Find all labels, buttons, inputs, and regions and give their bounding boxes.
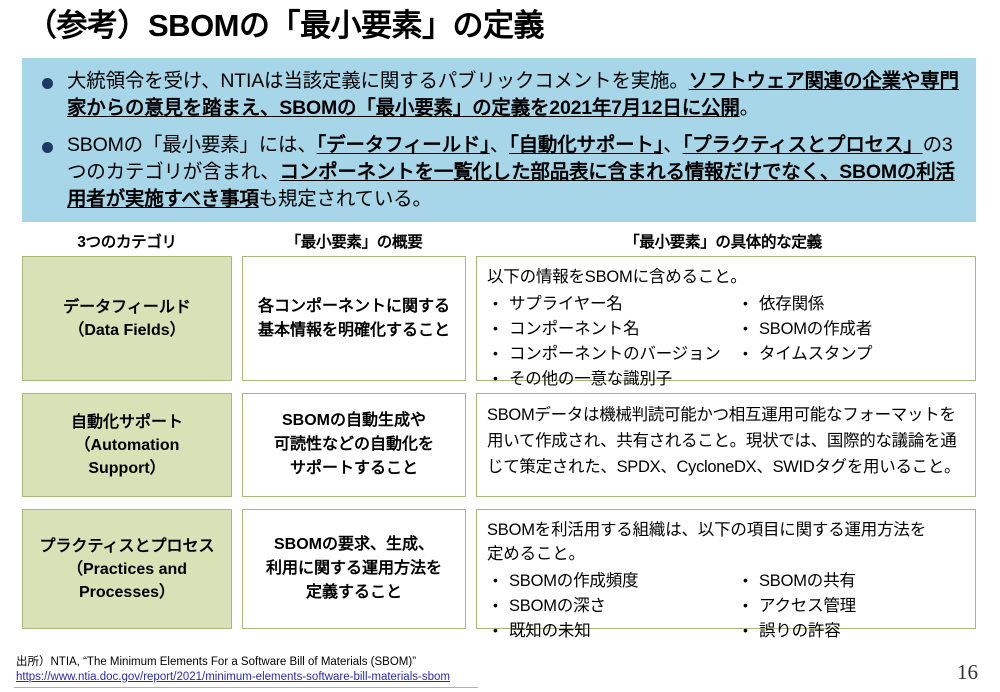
detail-list-item: 誤りの許容 — [737, 619, 856, 644]
category-name-en: （Practices andProcesses） — [27, 558, 227, 604]
banner-bullet-2-text: SBOMの「最小要素」には、「データフィールド」、「自動化サポート」、「プラクテ… — [67, 132, 966, 213]
page-title: （参考）SBOMの「最小要素」の定義 — [26, 6, 966, 46]
detail-cell-automation-support: SBOMデータは機械判読可能かつ相互運用可能なフォーマットを用いて作成され、共有… — [476, 393, 976, 497]
detail-list-item: SBOMの作成者 — [737, 317, 872, 342]
column-header-definition: 「最小要素」の具体的な定義 — [470, 230, 976, 252]
overview-cell-practices-processes: SBOMの要求、生成、利用に関する運用方法を定義すること — [242, 509, 466, 629]
detail-list-item: 依存関係 — [737, 292, 872, 317]
overview-text: 各コンポーネントに関する基本情報を明確化すること — [249, 295, 459, 343]
overview-text: SBOMの要求、生成、利用に関する運用方法を定義すること — [249, 533, 459, 605]
category-cell-automation-support: 自動化サポート （AutomationSupport） — [22, 393, 232, 497]
column-header-overview: 「最小要素」の概要 — [242, 230, 466, 252]
footer-source: 出所）NTIA, “The Minimum Elements For a Sof… — [16, 655, 450, 685]
detail-list-item: 既知の未知 — [487, 619, 737, 644]
banner-bullet-1: 大統領令を受け、NTIAは当該定義に関するパブリックコメントを実施。ソフトウェア… — [32, 68, 966, 122]
detail-list-right: 依存関係SBOMの作成者タイムスタンプ — [737, 292, 872, 392]
detail-list-item: タイムスタンプ — [737, 342, 872, 367]
footer-divider — [14, 687, 478, 688]
detail-list-right: SBOMの共有アクセス管理誤りの許容 — [737, 569, 856, 644]
detail-lead-text: SBOMを利活用する組織は、以下の項目に関する運用方法を定めること。 — [487, 518, 965, 566]
detail-cell-practices-processes: SBOMを利活用する組織は、以下の項目に関する運用方法を定めること。 SBOMの… — [476, 509, 976, 629]
banner-plain-text: 、 — [490, 134, 509, 156]
table-row: 自動化サポート （AutomationSupport） SBOMの自動生成や可読… — [22, 393, 976, 497]
detail-list-item: サプライヤー名 — [487, 292, 737, 317]
banner-plain-text: 大統領令を受け、NTIAは当該定義に関するパブリックコメントを実施。 — [67, 70, 689, 92]
detail-list-left: SBOMの作成頻度SBOMの深さ既知の未知 — [487, 569, 737, 644]
detail-list-columns: サプライヤー名コンポーネント名コンポーネントのバージョンその他の一意な識別子 依… — [487, 292, 965, 392]
bullet-dot-icon — [42, 78, 53, 89]
page-number: 16 — [957, 660, 978, 685]
overview-cell-data-fields: 各コンポーネントに関する基本情報を明確化すること — [242, 256, 466, 381]
overview-cell-automation-support: SBOMの自動生成や可読性などの自動化をサポートすること — [242, 393, 466, 497]
column-header-category: 3つのカテゴリ — [22, 230, 232, 252]
table-row: プラクティスとプロセス （Practices andProcesses） SBO… — [22, 509, 976, 629]
banner-emphasis-text: 「自動化サポート」 — [509, 134, 663, 156]
footer-source-label: 出所）NTIA, “The Minimum Elements For a Sof… — [16, 656, 416, 668]
category-name-en: （AutomationSupport） — [27, 434, 227, 480]
detail-list-item: コンポーネント名 — [487, 317, 737, 342]
footer-source-link[interactable]: https://www.ntia.doc.gov/report/2021/min… — [16, 670, 450, 685]
category-name-ja: データフィールド — [27, 296, 227, 319]
banner-plain-text: 、 — [663, 134, 682, 156]
category-name-en: （Data Fields） — [27, 319, 227, 342]
detail-list-item: SBOMの作成頻度 — [487, 569, 737, 594]
banner-plain-text: 。 — [740, 97, 759, 119]
bullet-dot-icon — [42, 142, 53, 153]
detail-list-item: SBOMの共有 — [737, 569, 856, 594]
table-row: データフィールド （Data Fields） 各コンポーネントに関する基本情報を… — [22, 256, 976, 381]
banner-plain-text: も規定されている。 — [259, 188, 432, 210]
detail-list-item: SBOMの深さ — [487, 594, 737, 619]
detail-paragraph-text: SBOMデータは機械判読可能かつ相互運用可能なフォーマットを用いて作成され、共有… — [487, 402, 965, 480]
detail-list-item: アクセス管理 — [737, 594, 856, 619]
banner-bullet-2: SBOMの「最小要素」には、「データフィールド」、「自動化サポート」、「プラクテ… — [32, 132, 966, 213]
category-name-ja: プラクティスとプロセス — [27, 535, 227, 558]
banner-emphasis-text: 「データフィールド」 — [317, 134, 490, 156]
detail-list-columns: SBOMの作成頻度SBOMの深さ既知の未知 SBOMの共有アクセス管理誤りの許容 — [487, 569, 965, 644]
summary-banner: 大統領令を受け、NTIAは当該定義に関するパブリックコメントを実施。ソフトウェア… — [22, 58, 976, 222]
detail-list-left: サプライヤー名コンポーネント名コンポーネントのバージョンその他の一意な識別子 — [487, 292, 737, 392]
category-cell-data-fields: データフィールド （Data Fields） — [22, 256, 232, 381]
definition-table: 3つのカテゴリ 「最小要素」の概要 「最小要素」の具体的な定義 データフィールド… — [22, 230, 976, 641]
category-name-ja: 自動化サポート — [27, 411, 227, 434]
detail-cell-data-fields: 以下の情報をSBOMに含めること。 サプライヤー名コンポーネント名コンポーネント… — [476, 256, 976, 381]
detail-lead-text: 以下の情報をSBOMに含めること。 — [487, 265, 965, 289]
banner-bullet-1-text: 大統領令を受け、NTIAは当該定義に関するパブリックコメントを実施。ソフトウェア… — [67, 68, 966, 122]
banner-plain-text: SBOMの「最小要素」には、 — [67, 134, 317, 156]
category-cell-practices-processes: プラクティスとプロセス （Practices andProcesses） — [22, 509, 232, 629]
banner-emphasis-text: 「プラクティスとプロセス」 — [683, 134, 923, 156]
overview-text: SBOMの自動生成や可読性などの自動化をサポートすること — [249, 409, 459, 481]
detail-list-item: コンポーネントのバージョン — [487, 342, 737, 367]
table-column-headers: 3つのカテゴリ 「最小要素」の概要 「最小要素」の具体的な定義 — [22, 230, 976, 256]
detail-list-item: その他の一意な識別子 — [487, 367, 737, 392]
